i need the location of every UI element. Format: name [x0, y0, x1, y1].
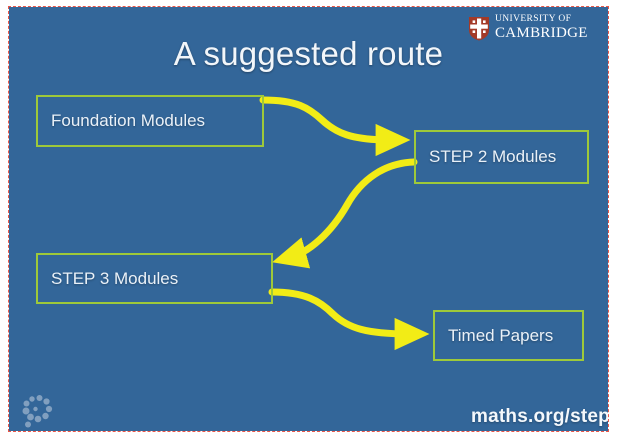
node-label-step-3-modules: STEP 3 Modules: [38, 269, 178, 289]
arrow-step3-to-timed: [272, 292, 410, 334]
footer-url[interactable]: maths.org/step: [471, 406, 608, 428]
node-label-foundation-modules: Foundation Modules: [38, 111, 205, 131]
node-box-step-2-modules[interactable]: STEP 2 Modules: [414, 130, 589, 184]
node-box-timed-papers[interactable]: Timed Papers: [433, 310, 584, 361]
node-label-timed-papers: Timed Papers: [435, 326, 553, 346]
slide-canvas: UNIVERSITY OF CAMBRIDGE A suggested rout…: [9, 7, 608, 431]
arrow-step2-to-step3: [291, 162, 414, 257]
arrow-foundation-to-step2: [263, 100, 391, 140]
node-box-foundation-modules[interactable]: Foundation Modules: [36, 95, 264, 147]
nrich-spiral-icon: [17, 392, 57, 430]
node-label-step-2-modules: STEP 2 Modules: [416, 147, 556, 167]
logo-line-university-of: UNIVERSITY OF: [495, 15, 588, 25]
node-box-step-3-modules[interactable]: STEP 3 Modules: [36, 253, 273, 304]
page-title: A suggested route: [9, 35, 608, 73]
